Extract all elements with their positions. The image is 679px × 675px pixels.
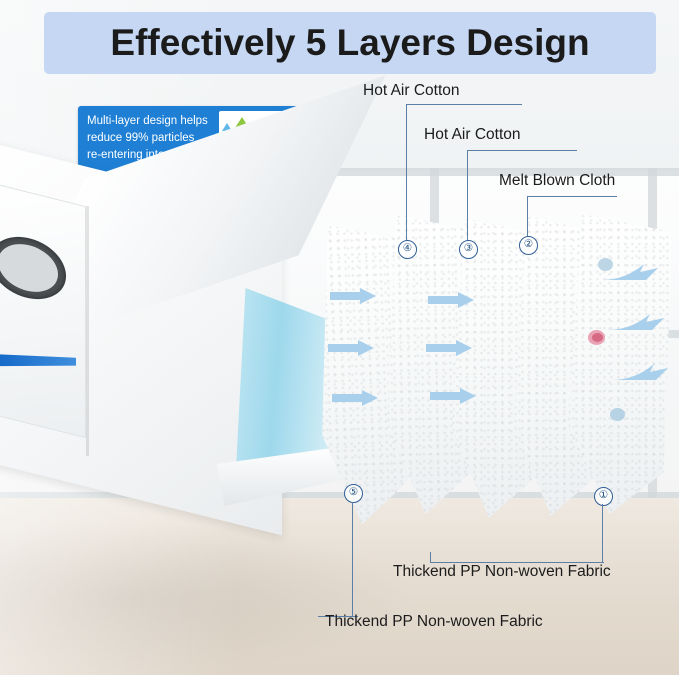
leader-line-4-horizontal	[406, 104, 522, 105]
label-thickend-pp-bottom: Thickend PP Non-woven Fabric	[325, 613, 543, 631]
title-banner: Effectively 5 Layers Design	[44, 12, 656, 74]
airflow-arrow-curved-icon	[606, 312, 666, 334]
page-title: Effectively 5 Layers Design	[110, 22, 589, 64]
leader-line-1-tick	[430, 552, 431, 563]
airflow-arrow-icon	[430, 388, 476, 404]
airflow-arrow-curved-icon	[610, 362, 670, 384]
callout-number-4: ④	[398, 240, 417, 259]
valve-red-inner-icon	[592, 333, 603, 342]
callout-number-1: ①	[594, 487, 613, 506]
callout-number-2: ②	[519, 236, 538, 255]
airflow-arrow-icon	[332, 390, 378, 406]
airflow-arrow-curved-icon	[600, 262, 660, 284]
leader-line-3-vertical	[467, 150, 468, 240]
vacuum-dust-bag	[0, 178, 362, 508]
leader-line-2-horizontal	[527, 196, 617, 197]
leader-line-3-horizontal	[467, 150, 577, 151]
bag-front-panel	[0, 182, 86, 438]
airflow-arrow-icon	[426, 340, 472, 356]
airflow-arrow-icon	[428, 292, 474, 308]
leader-line-5-vertical	[352, 502, 353, 616]
label-thickend-pp-right: Thickend PP Non-woven Fabric	[393, 563, 611, 581]
label-melt-blown-cloth: Melt Blown Cloth	[499, 172, 615, 190]
callout-number-5: ⑤	[344, 484, 363, 503]
leader-line-2-vertical	[527, 196, 528, 236]
callout-number-3: ③	[459, 240, 478, 259]
airflow-arrow-icon	[328, 340, 374, 356]
product-infographic: Effectively 5 Layers Design Multi-layer …	[0, 0, 679, 675]
airflow-arrow-icon	[330, 288, 376, 304]
label-hot-air-cotton-second: Hot Air Cotton	[424, 126, 521, 144]
valve-bottom-icon	[610, 408, 625, 421]
filter-layer-stack	[310, 200, 675, 520]
leader-line-1-vertical	[602, 504, 603, 562]
bag-edge	[86, 206, 89, 457]
info-badge-line-1: Multi-layer design helps	[87, 113, 213, 130]
leader-line-4-vertical	[406, 104, 407, 240]
label-hot-air-cotton-top: Hot Air Cotton	[363, 82, 460, 100]
